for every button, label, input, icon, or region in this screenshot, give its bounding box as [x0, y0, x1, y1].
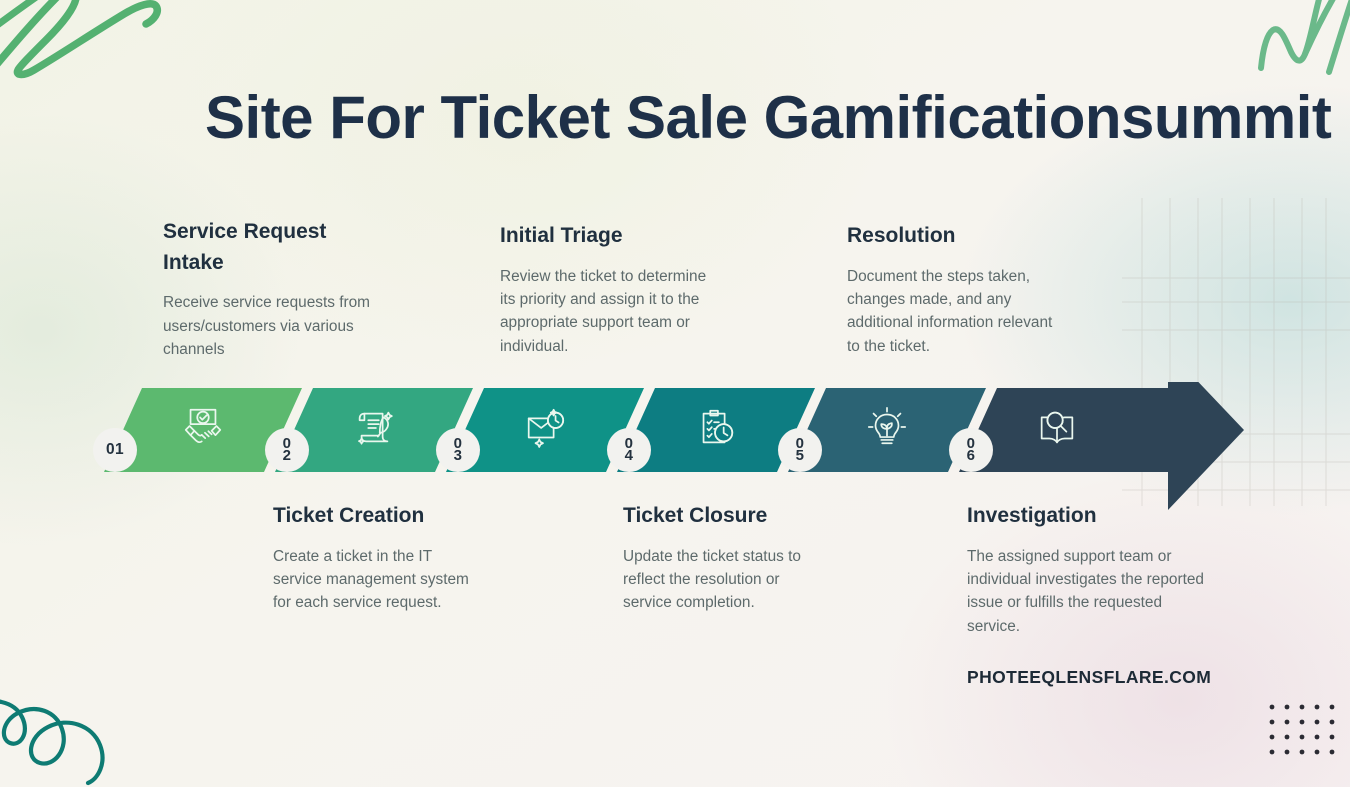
step-title-2: Ticket Creation	[273, 501, 478, 532]
step-text-block-6: Investigation The assigned support team …	[967, 501, 1207, 638]
step-number-badge-3: 03	[436, 428, 480, 472]
step-description-5: Document the steps taken, changes made, …	[847, 265, 1062, 359]
step-description-6: The assigned support team or individual …	[967, 545, 1207, 639]
step-title-4: Ticket Closure	[623, 501, 813, 532]
step-text-block-3: Initial Triage Review the ticket to dete…	[500, 221, 715, 358]
page-title: Site For Ticket Sale Gamificationsummit	[205, 83, 1331, 152]
step-number-badge-2: 02	[265, 428, 309, 472]
step-title-1: Service Request Intake	[163, 217, 353, 278]
step-number-badge-6: 06	[949, 428, 993, 472]
step-text-block-4: Ticket Closure Update the ticket status …	[623, 501, 813, 615]
step-number-badge-5: 05	[778, 428, 822, 472]
step-title-3: Initial Triage	[500, 221, 715, 252]
step-text-block-5: Resolution Document the steps taken, cha…	[847, 221, 1062, 358]
step-title-6: Investigation	[967, 501, 1207, 532]
step-description-3: Review the ticket to determine its prior…	[500, 265, 715, 359]
step-text-block-1: Service Request Intake Receive service r…	[163, 217, 378, 362]
step-number-badge-4: 04	[607, 428, 651, 472]
step-description-4: Update the ticket status to reflect the …	[623, 545, 813, 615]
watermark-text: PHOTEEQLENSFLARE.COM	[967, 667, 1211, 688]
step-number-badge-1: 01	[93, 428, 137, 472]
step-description-2: Create a ticket in the IT service manage…	[273, 545, 478, 615]
step-description-1: Receive service requests from users/cust…	[163, 291, 378, 361]
step-text-block-2: Ticket Creation Create a ticket in the I…	[273, 501, 478, 615]
chevron-step-6-arrow[interactable]	[959, 382, 1244, 510]
step-title-5: Resolution	[847, 221, 1062, 252]
